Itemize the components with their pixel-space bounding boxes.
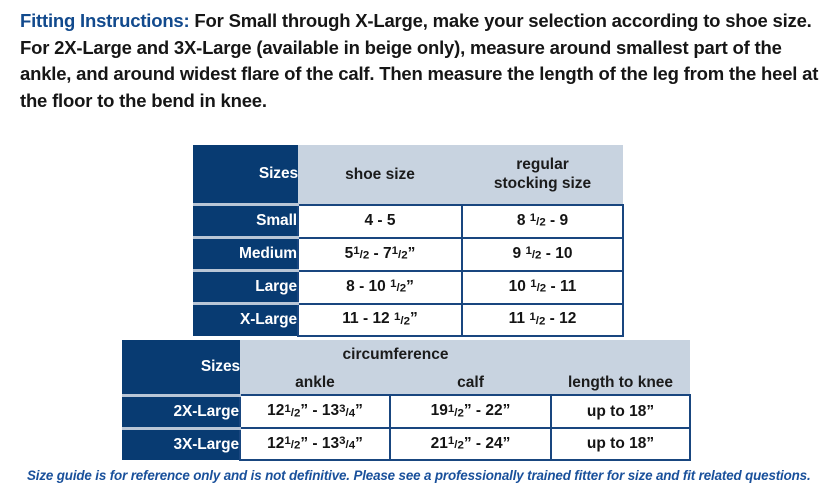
column-group-header-circumference: circumference xyxy=(240,340,551,370)
column-header-stocking-size-line1: regular xyxy=(462,155,623,174)
cell-medium-stocking-size: 9 1/2 - 10 xyxy=(462,238,623,271)
row-label-x-large: X-Large xyxy=(193,304,298,336)
table-group-header-row: Sizes circumference xyxy=(122,340,690,370)
column-header-stocking-size-line2: stocking size xyxy=(462,174,623,193)
cell-3x-large-length-to-knee: up to 18” xyxy=(551,428,690,460)
column-header-calf: calf xyxy=(390,370,551,395)
column-header-ankle: ankle xyxy=(240,370,390,395)
fitting-instructions-label: Fitting Instructions: xyxy=(20,10,189,31)
table-row: 3X-Large 121/2” - 133/4” 211/2” - 24” up… xyxy=(122,428,690,460)
column-group-header-spacer xyxy=(551,340,690,370)
row-label-small: Small xyxy=(193,205,298,238)
disclaimer-text: Size guide is for reference only and is … xyxy=(27,468,817,483)
column-header-shoe-size: shoe size xyxy=(298,145,462,205)
row-label-large: Large xyxy=(193,271,298,304)
table-row: X-Large 11 - 12 1/2” 11 1/2 - 12 xyxy=(193,304,623,336)
cell-3x-large-calf: 211/2” - 24” xyxy=(390,428,551,460)
table-header-row: Sizes shoe size regular stocking size xyxy=(193,145,623,205)
cell-small-stocking-size: 8 1/2 - 9 xyxy=(462,205,623,238)
row-label-2x-large: 2X-Large xyxy=(122,395,240,428)
cell-3x-large-ankle: 121/2” - 133/4” xyxy=(240,428,390,460)
column-header-sizes: Sizes xyxy=(193,145,298,205)
cell-2x-large-length-to-knee: up to 18” xyxy=(551,395,690,428)
fitting-instructions-paragraph: Fitting Instructions: For Small through … xyxy=(20,8,820,114)
cell-2x-large-calf: 191/2” - 22” xyxy=(390,395,551,428)
table-row: 2X-Large 121/2” - 133/4” 191/2” - 22” up… xyxy=(122,395,690,428)
row-label-medium: Medium xyxy=(193,238,298,271)
table-row: Medium 51/2 - 71/2” 9 1/2 - 10 xyxy=(193,238,623,271)
row-label-3x-large: 3X-Large xyxy=(122,428,240,460)
table-row: Large 8 - 10 1/2” 10 1/2 - 11 xyxy=(193,271,623,304)
cell-x-large-stocking-size: 11 1/2 - 12 xyxy=(462,304,623,336)
column-header-sizes: Sizes xyxy=(122,340,240,395)
cell-x-large-shoe-size: 11 - 12 1/2” xyxy=(298,304,462,336)
cell-small-shoe-size: 4 - 5 xyxy=(298,205,462,238)
shoe-size-table: Sizes shoe size regular stocking size Sm… xyxy=(193,145,624,337)
cell-medium-shoe-size: 51/2 - 71/2” xyxy=(298,238,462,271)
xl-size-table: Sizes circumference ankle calf length to… xyxy=(122,340,691,461)
column-header-stocking-size: regular stocking size xyxy=(462,145,623,205)
cell-large-shoe-size: 8 - 10 1/2” xyxy=(298,271,462,304)
cell-large-stocking-size: 10 1/2 - 11 xyxy=(462,271,623,304)
column-header-length-to-knee: length to knee xyxy=(551,370,690,395)
table-row: Small 4 - 5 8 1/2 - 9 xyxy=(193,205,623,238)
cell-2x-large-ankle: 121/2” - 133/4” xyxy=(240,395,390,428)
column-header-shoe-size-line2: shoe size xyxy=(345,166,415,183)
